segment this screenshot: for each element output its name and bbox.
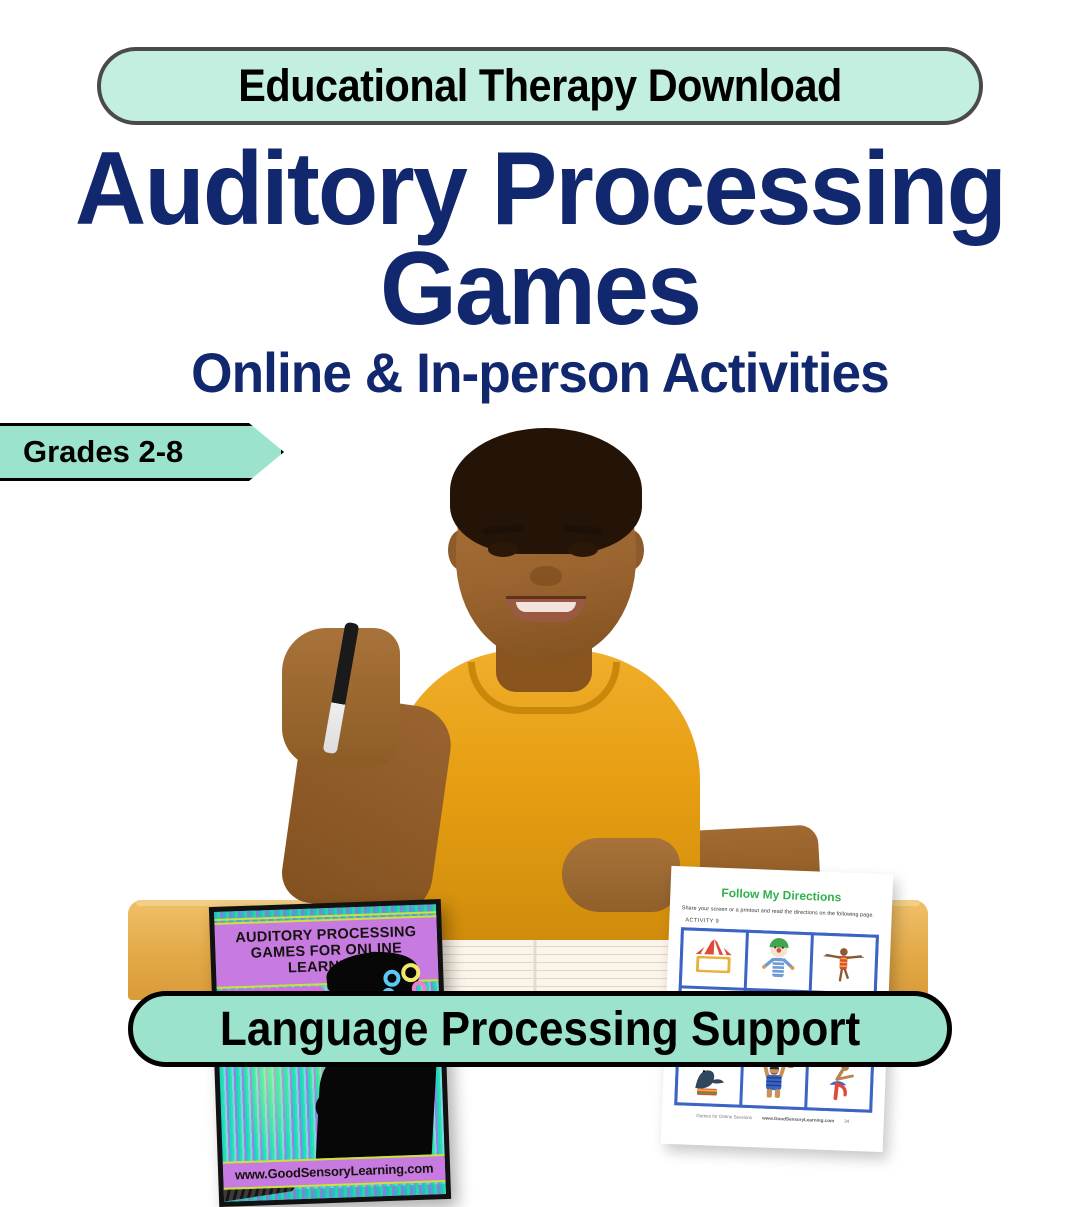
boy-left-eye xyxy=(488,542,518,557)
worksheet-title: Follow My Directions xyxy=(682,884,880,906)
worksheet-cell-tightrope-walker xyxy=(812,935,876,993)
top-banner: Educational Therapy Download xyxy=(97,47,983,125)
page-title: Auditory Processing Games xyxy=(0,140,1080,340)
worksheet-cell-clown xyxy=(747,933,811,991)
headline-line-1: Auditory Processing xyxy=(27,140,1053,240)
boy-right-eye xyxy=(568,542,598,557)
worksheet-footer-url: www.GoodSensoryLearning.com xyxy=(762,1116,834,1124)
worksheet-cell-circus-tent xyxy=(682,930,746,988)
headline-line-2: Games xyxy=(27,240,1053,340)
boy-nose xyxy=(530,566,562,586)
worksheet-footer-page: 34 xyxy=(844,1119,849,1124)
bottom-banner-label: Language Processing Support xyxy=(220,1002,860,1057)
boy-right-hand xyxy=(562,838,680,912)
page-subtitle: Online & In-person Activities xyxy=(27,340,1053,405)
worksheet-footer-left: Games for Online Sessions xyxy=(696,1113,752,1120)
boy-hair xyxy=(450,428,642,554)
book-url-label: www.GoodSensoryLearning.com xyxy=(235,1160,434,1182)
top-banner-label: Educational Therapy Download xyxy=(238,60,842,112)
bottom-banner: Language Processing Support xyxy=(128,991,952,1067)
worksheet-footer: Games for Online Sessions www.GoodSensor… xyxy=(674,1112,872,1125)
product-photo: AUDITORY PROCESSING GAMES FOR ONLINE LEA… xyxy=(0,400,1080,1000)
boy-left-arm xyxy=(278,691,456,920)
worksheet-instruction: Share your screen or a printout and read… xyxy=(682,905,880,919)
